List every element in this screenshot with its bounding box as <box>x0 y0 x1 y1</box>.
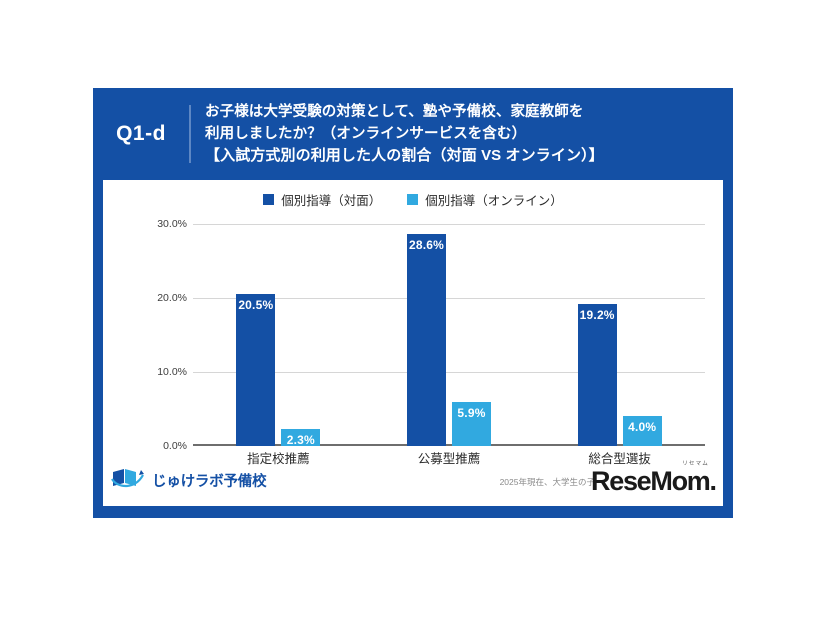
survey-result-card: Q1-d お子様は大学受験の対策として、塾や予備校、家庭教師を 利用しましたか？… <box>93 88 733 518</box>
publisher-logo: リセマム ReseMom . <box>591 468 717 495</box>
y-tick-label-0: 0.0% <box>163 440 187 452</box>
bar-value-label-online-2: 4.0% <box>628 420 656 434</box>
chart-bar-groups: 20.5% 2.3% 28.6% 5.9% <box>193 224 705 446</box>
bar-group-1: 28.6% 5.9% <box>364 224 535 446</box>
y-tick-label-20: 20.0% <box>157 292 187 304</box>
card-header: Q1-d お子様は大学受験の対策として、塾や予備校、家庭教師を 利用しましたか？… <box>93 88 733 180</box>
question-title: お子様は大学受験の対策として、塾や予備校、家庭教師を 利用しましたか？（オンライ… <box>205 101 632 168</box>
bar-online-1[interactable]: 5.9% <box>452 402 491 446</box>
x-tick-label-2: 総合型選抜 <box>534 448 705 467</box>
bar-value-label-face-1: 28.6% <box>409 238 444 252</box>
bar-face-0[interactable]: 20.5% <box>236 294 275 446</box>
screenshot-stage: Q1-d お子様は大学受験の対策として、塾や予備校、家庭教師を 利用しましたか？… <box>0 0 826 620</box>
bar-value-label-face-2: 19.2% <box>580 308 615 322</box>
x-tick-label-1: 公募型推薦 <box>364 448 535 467</box>
bar-face-1[interactable]: 28.6% <box>407 234 446 446</box>
y-axis-labels: 0.0% 10.0% 20.0% 30.0% <box>103 224 193 446</box>
legend-item-online[interactable]: 個別指導（オンライン） <box>407 190 563 209</box>
bar-group-0: 20.5% 2.3% <box>193 224 364 446</box>
bar-online-2[interactable]: 4.0% <box>623 416 662 446</box>
x-axis-labels: 指定校推薦 公募型推薦 総合型選抜 <box>193 448 705 467</box>
source-note: 2025年現在、大学生の子 <box>500 476 595 488</box>
bar-group-2: 19.2% 4.0% <box>534 224 705 446</box>
legend-item-face[interactable]: 個別指導（対面） <box>263 190 381 209</box>
publisher-name: ReseMom <box>591 468 709 495</box>
publisher-ruby-text: リセマム <box>682 459 709 467</box>
bar-face-2[interactable]: 19.2% <box>578 304 617 446</box>
publisher-dot: . <box>709 468 717 495</box>
bar-online-0[interactable]: 2.3% <box>281 429 320 446</box>
footer-accent-bar <box>93 506 733 518</box>
question-id-badge: Q1-d <box>93 122 189 146</box>
bar-value-label-online-1: 5.9% <box>457 406 485 420</box>
brand-name: じゅけラボ予備校 <box>152 470 266 491</box>
question-title-line-2: 利用しましたか？（オンラインサービスを含む） <box>205 123 622 145</box>
y-tick-label-30: 30.0% <box>157 218 187 230</box>
y-tick-label-10: 10.0% <box>157 366 187 378</box>
brand-mark-icon <box>111 466 145 495</box>
question-title-line-1: お子様は大学受験の対策として、塾や予備校、家庭教師を <box>205 101 622 123</box>
chart-legend: 個別指導（対面） 個別指導（オンライン） <box>103 190 723 209</box>
brand-logo: じゅけラボ予備校 <box>111 466 266 495</box>
legend-swatch-icon-face <box>263 194 274 205</box>
bar-value-label-online-0: 2.3% <box>287 433 315 447</box>
legend-label-face: 個別指導（対面） <box>281 190 381 209</box>
x-tick-label-0: 指定校推薦 <box>193 448 364 467</box>
legend-label-online: 個別指導（オンライン） <box>425 190 563 209</box>
question-title-line-3: 【入試方式別の利用した人の割合（対面 VS オンライン）】 <box>205 145 622 168</box>
bar-value-label-face-0: 20.5% <box>238 298 273 312</box>
chart-panel: 個別指導（対面） 個別指導（オンライン） 0.0% 10.0% 20.0% 30… <box>103 180 723 508</box>
legend-swatch-icon-online <box>407 194 418 205</box>
header-divider <box>189 105 191 163</box>
